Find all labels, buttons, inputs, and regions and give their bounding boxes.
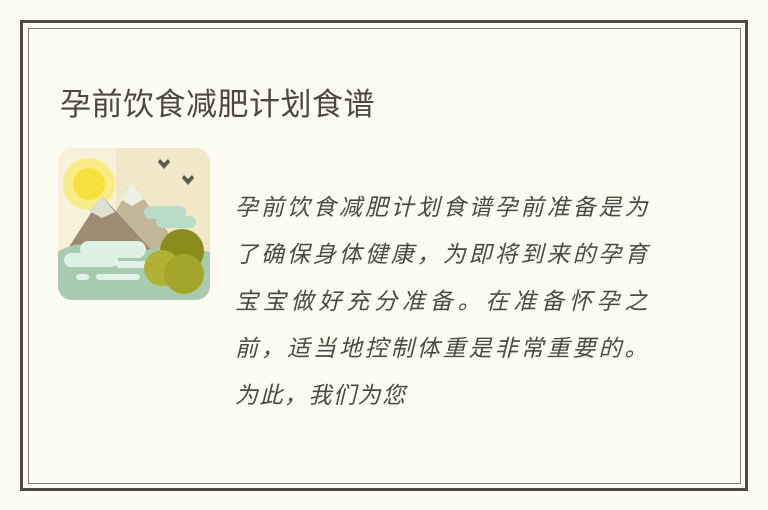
page-title: 孕前饮食减肥计划食谱 <box>60 83 375 127</box>
article-body: 孕前饮食减肥计划食谱孕前准备是为了确保身体健康，为即将到来的孕育宝宝做好充分准备… <box>235 185 649 420</box>
mountain-landscape-illustration <box>58 148 210 300</box>
article-page: 孕前饮食减肥计划食谱 <box>0 0 768 510</box>
